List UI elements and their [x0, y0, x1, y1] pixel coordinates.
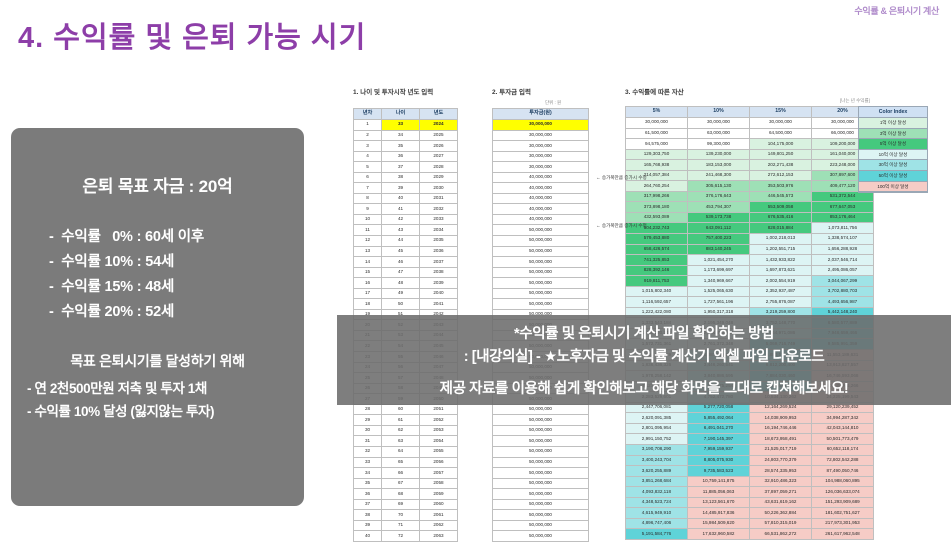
cell[interactable]: 2040 [420, 288, 458, 299]
table-row[interactable]: 30,000,00030,000,00030,000,00030,000,000 [626, 118, 874, 129]
table-row[interactable]: 30,000,000 [493, 162, 589, 173]
table-row[interactable]: 3,620,255,8899,735,583,52328,574,335,953… [626, 466, 874, 477]
cell[interactable]: 30,000,000 [493, 151, 589, 162]
table-row[interactable]: 1332024 [354, 120, 458, 131]
cell[interactable]: 828,392,146 [626, 265, 688, 276]
cell[interactable]: 2026 [420, 141, 458, 152]
cell[interactable]: 2062 [420, 520, 458, 531]
cell[interactable]: 919,811,753 [626, 276, 688, 287]
table-row[interactable]: 50,000,000 [493, 436, 589, 447]
table-row[interactable]: 36682059 [354, 489, 458, 500]
table-row[interactable]: 50,000,000 [493, 278, 589, 289]
table-row[interactable]: 579,453,880757,400,2231,002,218,0131,338… [626, 234, 874, 245]
cell[interactable]: 139,230,000 [688, 149, 750, 160]
cell[interactable]: 305,615,130 [688, 181, 750, 192]
cell[interactable]: 317,998,266 [626, 191, 688, 202]
cell[interactable]: 50,000,000 [493, 478, 589, 489]
cell[interactable]: 3,702,880,703 [812, 286, 874, 297]
cell[interactable]: 30,000,000 [626, 118, 688, 129]
cell[interactable]: 446,545,573 [750, 191, 812, 202]
table-row[interactable]: 17492040 [354, 288, 458, 299]
cell[interactable]: 21,525,017,719 [750, 444, 812, 455]
cell[interactable]: 2052 [420, 415, 458, 426]
table-row[interactable]: 38702061 [354, 510, 458, 521]
table-row[interactable]: 1,116,592,6571,727,561,1962,755,876,0874… [626, 297, 874, 308]
cell[interactable]: 30,000,000 [493, 130, 589, 141]
cell[interactable]: 36 [354, 489, 382, 500]
table-row[interactable]: 4,896,747,40615,984,509,62057,810,315,01… [626, 518, 874, 529]
cell[interactable]: 2033 [420, 214, 458, 225]
cell[interactable]: 24,803,770,379 [750, 455, 812, 466]
cell[interactable]: 18,673,958,491 [750, 434, 812, 445]
cell[interactable]: 2,037,546,714 [812, 255, 874, 266]
table-row[interactable]: 2,620,091,3855,855,492,06414,038,909,953… [626, 413, 874, 424]
cell[interactable]: 4,493,656,987 [812, 297, 874, 308]
cell[interactable]: 28 [354, 404, 382, 415]
cell[interactable]: 3 [354, 141, 382, 152]
table-row[interactable]: 1,015,802,3401,525,065,6302,352,937,4873… [626, 286, 874, 297]
cell[interactable]: 151,293,909,689 [812, 497, 874, 508]
cell[interactable]: 30 [354, 425, 382, 436]
cell[interactable]: 2032 [420, 204, 458, 215]
cell[interactable]: 60,652,118,174 [812, 444, 874, 455]
table-row[interactable]: 30622053 [354, 425, 458, 436]
cell[interactable]: 50,000,000 [493, 299, 589, 310]
cell[interactable]: 9,735,583,523 [688, 466, 750, 477]
table-row[interactable]: 4362027 [354, 151, 458, 162]
cell[interactable]: 30,000,000 [493, 162, 589, 173]
cell[interactable]: 17 [354, 288, 382, 299]
table-row[interactable]: 50,000,000 [493, 446, 589, 457]
cell[interactable]: 2063 [420, 531, 458, 542]
cell[interactable]: 50,000,000 [493, 267, 589, 278]
cell[interactable]: 60 [382, 404, 420, 415]
table-row[interactable]: 50,000,000 [493, 425, 589, 436]
cell[interactable]: 17,632,960,582 [688, 529, 750, 540]
cell[interactable]: 12 [354, 236, 382, 247]
cell[interactable]: 39 [382, 183, 420, 194]
cell[interactable]: 3,190,708,290 [626, 444, 688, 455]
cell[interactable]: 50,000,000 [493, 446, 589, 457]
cell[interactable]: 1,727,561,196 [688, 297, 750, 308]
cell[interactable]: 432,593,089 [626, 212, 688, 223]
cell[interactable]: 64,500,000 [750, 128, 812, 139]
cell[interactable]: 40,000,000 [493, 193, 589, 204]
table-row[interactable]: 10422033 [354, 214, 458, 225]
table-row[interactable]: 61,500,00063,000,00064,500,00066,000,000 [626, 128, 874, 139]
cell[interactable]: 33 [382, 120, 420, 131]
cell[interactable]: 2039 [420, 278, 458, 289]
cell[interactable]: 1,002,218,013 [750, 234, 812, 245]
cell[interactable]: 1,015,802,340 [626, 286, 688, 297]
cell[interactable]: 2035 [420, 236, 458, 247]
cell[interactable]: 40,000,000 [493, 214, 589, 225]
table-row[interactable]: 30,000,000 [493, 120, 589, 131]
cell[interactable]: 62 [382, 425, 420, 436]
cell[interactable]: 2029 [420, 172, 458, 183]
cell[interactable]: 40 [354, 531, 382, 542]
cell[interactable]: 241,468,300 [688, 170, 750, 181]
cell[interactable]: 453,794,307 [688, 202, 750, 213]
cell[interactable]: 35 [354, 478, 382, 489]
cell[interactable]: 50,000,000 [493, 257, 589, 268]
table-row[interactable]: 9412032 [354, 204, 458, 215]
cell[interactable]: 2,352,937,487 [750, 286, 812, 297]
cell[interactable]: 33 [354, 457, 382, 468]
table-row[interactable]: 40,000,000 [493, 172, 589, 183]
cell[interactable]: 61 [382, 415, 420, 426]
table-row[interactable]: 2,801,095,9546,491,041,27016,194,746,446… [626, 423, 874, 434]
table-row[interactable]: 50,000,000 [493, 510, 589, 521]
cell[interactable]: 5,855,492,064 [688, 413, 750, 424]
cell[interactable]: 1,338,574,107 [812, 234, 874, 245]
cell[interactable]: 1,073,811,756 [812, 223, 874, 234]
cell[interactable]: 658,426,574 [626, 244, 688, 255]
table-row[interactable]: 13452036 [354, 246, 458, 257]
cell[interactable]: 539,173,738 [688, 212, 750, 223]
cell[interactable]: 37 [354, 499, 382, 510]
table-row[interactable]: 30,000,000 [493, 130, 589, 141]
cell[interactable]: 4,615,949,910 [626, 508, 688, 519]
cell[interactable]: 42 [382, 214, 420, 225]
cell[interactable]: 4 [354, 151, 382, 162]
table-row[interactable]: 50,000,000 [493, 468, 589, 479]
table-row[interactable]: 8402031 [354, 193, 458, 204]
table-row[interactable]: 40,000,000 [493, 214, 589, 225]
cell[interactable]: 1,173,699,697 [688, 265, 750, 276]
cell[interactable]: 3,620,255,889 [626, 466, 688, 477]
cell[interactable]: 129,303,750 [626, 149, 688, 160]
table-row[interactable]: 40722063 [354, 531, 458, 542]
cell[interactable]: 14 [354, 257, 382, 268]
cell[interactable]: 217,973,301,953 [812, 518, 874, 529]
cell[interactable]: 126,036,633,074 [812, 487, 874, 498]
cell[interactable]: 50,000,000 [493, 415, 589, 426]
cell[interactable]: 40,000,000 [493, 183, 589, 194]
cell[interactable]: 41 [382, 204, 420, 215]
cell[interactable]: 2041 [420, 299, 458, 310]
table-row[interactable]: 741,325,8531,021,454,2701,432,933,8222,0… [626, 255, 874, 266]
cell[interactable]: 34 [354, 468, 382, 479]
table-row[interactable]: 40,000,000 [493, 204, 589, 215]
cell[interactable]: 40,000,000 [493, 172, 589, 183]
cell[interactable]: 2,801,095,954 [626, 423, 688, 434]
cell[interactable]: 2051 [420, 404, 458, 415]
cell[interactable]: 70 [382, 510, 420, 521]
table-row[interactable]: 3352026 [354, 141, 458, 152]
cell[interactable]: 1,202,551,715 [750, 244, 812, 255]
table-row[interactable]: 29612052 [354, 415, 458, 426]
table-row[interactable]: 50,000,000 [493, 499, 589, 510]
cell[interactable]: 11 [354, 225, 382, 236]
table-row[interactable]: 3,400,243,7048,805,075,93024,803,770,379… [626, 455, 874, 466]
cell[interactable]: 883,140,245 [688, 244, 750, 255]
cell[interactable]: 13 [354, 246, 382, 257]
table-row[interactable]: 31632054 [354, 436, 458, 447]
cell[interactable]: 2,755,876,087 [750, 297, 812, 308]
cell[interactable]: 2030 [420, 183, 458, 194]
cell[interactable]: 99,300,000 [688, 139, 750, 150]
cell[interactable]: 3,044,067,299 [812, 276, 874, 287]
table-row[interactable]: 50,000,000 [493, 457, 589, 468]
cell[interactable]: 757,400,223 [688, 234, 750, 245]
cell[interactable]: 828,015,884 [750, 223, 812, 234]
cell[interactable]: 2058 [420, 478, 458, 489]
table-row[interactable]: 658,426,574883,140,2451,202,551,7151,656… [626, 244, 874, 255]
cell[interactable]: 5,191,584,776 [626, 529, 688, 540]
cell[interactable]: 63 [382, 436, 420, 447]
cell[interactable]: 264,760,254 [626, 181, 688, 192]
cell[interactable]: 2,991,150,752 [626, 434, 688, 445]
cell[interactable]: 104,988,060,895 [812, 476, 874, 487]
cell[interactable]: 42,043,144,810 [812, 423, 874, 434]
table-row[interactable]: 34662057 [354, 468, 458, 479]
cell[interactable]: 2,495,086,057 [812, 265, 874, 276]
cell[interactable]: 553,509,058 [750, 202, 812, 213]
table-row[interactable]: 50,000,000 [493, 478, 589, 489]
cell[interactable]: 2056 [420, 457, 458, 468]
cell[interactable]: 50,000,000 [493, 278, 589, 289]
cell[interactable]: 2038 [420, 267, 458, 278]
cell[interactable]: 853,176,464 [812, 212, 874, 223]
cell[interactable]: 63,000,000 [688, 128, 750, 139]
cell[interactable]: 579,453,880 [626, 234, 688, 245]
cell[interactable]: 32,910,486,323 [750, 476, 812, 487]
cell[interactable]: 2028 [420, 162, 458, 173]
cell[interactable]: 16,194,746,446 [750, 423, 812, 434]
cell[interactable]: 30,000,000 [750, 118, 812, 129]
table-row[interactable]: 50,000,000 [493, 520, 589, 531]
table-row[interactable]: 432,593,089539,173,738676,535,416853,176… [626, 212, 874, 223]
cell[interactable]: 43,631,619,162 [750, 497, 812, 508]
cell[interactable]: 29 [354, 415, 382, 426]
cell[interactable]: 5 [354, 162, 382, 173]
cell[interactable]: 7,959,159,937 [688, 444, 750, 455]
cell[interactable]: 66,531,862,272 [750, 529, 812, 540]
cell[interactable]: 43 [382, 225, 420, 236]
table-row[interactable]: 33652056 [354, 457, 458, 468]
cell[interactable]: 18 [354, 299, 382, 310]
table-row[interactable]: 214,057,384241,468,300272,612,153307,897… [626, 170, 874, 181]
cell[interactable]: 47 [382, 267, 420, 278]
cell[interactable]: 1,432,933,822 [750, 255, 812, 266]
cell[interactable]: 94,575,000 [626, 139, 688, 150]
cell[interactable]: 50,000,000 [493, 499, 589, 510]
cell[interactable]: 13,123,561,670 [688, 497, 750, 508]
cell[interactable]: 7,190,145,397 [688, 434, 750, 445]
cell[interactable]: 15,984,509,620 [688, 518, 750, 529]
cell[interactable]: 14,485,917,836 [688, 508, 750, 519]
table-row[interactable]: 30,000,000 [493, 151, 589, 162]
cell[interactable]: 4,093,832,118 [626, 487, 688, 498]
cell[interactable]: 677,647,053 [812, 202, 874, 213]
table-row[interactable]: 6382029 [354, 172, 458, 183]
table-row[interactable]: 14462037 [354, 257, 458, 268]
cell[interactable]: 1 [354, 120, 382, 131]
cell[interactable]: 87,490,050,746 [812, 466, 874, 477]
cell[interactable]: 8,805,075,930 [688, 455, 750, 466]
cell[interactable]: 1,525,065,630 [688, 286, 750, 297]
cell[interactable]: 66 [382, 468, 420, 479]
cell[interactable]: 72,802,542,288 [812, 455, 874, 466]
cell[interactable]: 32 [354, 446, 382, 457]
table-row[interactable]: 11432034 [354, 225, 458, 236]
cell[interactable]: 373,898,180 [626, 202, 688, 213]
table-row[interactable]: 165,768,938183,153,000202,271,438223,248… [626, 160, 874, 171]
cell[interactable]: 38 [382, 172, 420, 183]
table-row[interactable]: 94,575,00099,300,000104,175,000109,200,0… [626, 139, 874, 150]
table-row[interactable]: 28602051 [354, 404, 458, 415]
cell[interactable]: 61,500,000 [626, 128, 688, 139]
table-row[interactable]: 50,000,000 [493, 415, 589, 426]
cell[interactable]: 50,000,000 [493, 489, 589, 500]
table-row[interactable]: 50,000,000 [493, 404, 589, 415]
cell[interactable]: 272,612,153 [750, 170, 812, 181]
cell[interactable]: 6,491,041,270 [688, 423, 750, 434]
cell[interactable]: 3,851,268,684 [626, 476, 688, 487]
cell[interactable]: 676,535,416 [750, 212, 812, 223]
cell[interactable]: 30,000,000 [688, 118, 750, 129]
cell[interactable]: 38 [354, 510, 382, 521]
cell[interactable]: 14,038,909,953 [750, 413, 812, 424]
cell[interactable]: 65 [382, 457, 420, 468]
cell[interactable]: 50,000,000 [493, 404, 589, 415]
cell[interactable]: 16 [354, 278, 382, 289]
cell[interactable]: 64 [382, 446, 420, 457]
cell[interactable]: 165,768,938 [626, 160, 688, 171]
cell[interactable]: 643,091,112 [688, 223, 750, 234]
cell[interactable]: 376,176,643 [688, 191, 750, 202]
table-row[interactable]: 37692060 [354, 499, 458, 510]
cell[interactable]: 30,000,000 [493, 141, 589, 152]
table-row[interactable]: 3,190,708,2907,959,159,93721,525,017,719… [626, 444, 874, 455]
cell[interactable]: 34 [382, 130, 420, 141]
cell[interactable]: 2055 [420, 446, 458, 457]
table-row[interactable]: 50,000,000 [493, 299, 589, 310]
table-row[interactable]: 16482039 [354, 278, 458, 289]
table-row[interactable]: 32642055 [354, 446, 458, 457]
cell[interactable]: 2057 [420, 468, 458, 479]
cell[interactable]: 2061 [420, 510, 458, 521]
cell[interactable]: 10,759,141,875 [688, 476, 750, 487]
cell[interactable]: 50,000,000 [493, 520, 589, 531]
table-row[interactable]: 50,000,000 [493, 489, 589, 500]
cell[interactable]: 6 [354, 172, 382, 183]
cell[interactable]: 7 [354, 183, 382, 194]
cell[interactable]: 181,602,751,627 [812, 508, 874, 519]
cell[interactable]: 57,810,315,019 [750, 518, 812, 529]
cell[interactable]: 11,885,056,063 [688, 487, 750, 498]
cell[interactable]: 15 [354, 267, 382, 278]
cell[interactable]: 1,656,288,928 [812, 244, 874, 255]
table-row[interactable]: 40,000,000 [493, 183, 589, 194]
cell[interactable]: 50,000,000 [493, 288, 589, 299]
cell[interactable]: 741,325,853 [626, 255, 688, 266]
cell[interactable]: 40,000,000 [493, 204, 589, 215]
cell[interactable]: 2031 [420, 193, 458, 204]
cell[interactable]: 34,994,287,342 [812, 413, 874, 424]
table-row[interactable]: 40,000,000 [493, 193, 589, 204]
table-row[interactable]: 2342025 [354, 130, 458, 141]
table-row[interactable]: 7392030 [354, 183, 458, 194]
table-row[interactable]: 15472038 [354, 267, 458, 278]
cell[interactable]: 2,620,091,385 [626, 413, 688, 424]
cell[interactable]: 261,617,962,548 [812, 529, 874, 540]
table-row[interactable]: 50,000,000 [493, 225, 589, 236]
cell[interactable]: 2,002,554,919 [750, 276, 812, 287]
cell[interactable]: 104,175,000 [750, 139, 812, 150]
cell[interactable]: 37,897,059,271 [750, 487, 812, 498]
cell[interactable]: 10 [354, 214, 382, 225]
cell[interactable]: 2036 [420, 246, 458, 257]
cell[interactable]: 2034 [420, 225, 458, 236]
cell[interactable]: 183,153,000 [688, 160, 750, 171]
table-row[interactable]: 50,000,000 [493, 257, 589, 268]
cell[interactable]: 44 [382, 236, 420, 247]
cell[interactable]: 9 [354, 204, 382, 215]
cell[interactable]: 46 [382, 257, 420, 268]
table-row[interactable]: 50,000,000 [493, 246, 589, 257]
cell[interactable]: 2 [354, 130, 382, 141]
cell[interactable]: 72 [382, 531, 420, 542]
cell[interactable]: 202,271,438 [750, 160, 812, 171]
table-row[interactable]: 30,000,000 [493, 141, 589, 152]
cell[interactable]: 71 [382, 520, 420, 531]
table-row[interactable]: 317,998,266376,176,643446,545,573531,372… [626, 191, 874, 202]
cell[interactable]: 2025 [420, 130, 458, 141]
table-row[interactable]: 5,191,584,77617,632,960,58266,531,862,27… [626, 529, 874, 540]
cell[interactable]: 1,116,592,657 [626, 297, 688, 308]
cell[interactable]: 50,000,000 [493, 236, 589, 247]
cell[interactable]: 50,000,000 [493, 225, 589, 236]
cell[interactable]: 67 [382, 478, 420, 489]
cell[interactable]: 4,896,747,406 [626, 518, 688, 529]
table-row[interactable]: 50,000,000 [493, 288, 589, 299]
cell[interactable]: 4,348,523,724 [626, 497, 688, 508]
cell[interactable]: 2037 [420, 257, 458, 268]
table-row[interactable]: 504,232,743643,091,112828,015,8841,073,8… [626, 223, 874, 234]
cell[interactable]: 39 [354, 520, 382, 531]
cell[interactable]: 36 [382, 151, 420, 162]
table-row[interactable]: 373,898,180453,794,307553,509,058677,647… [626, 202, 874, 213]
cell[interactable]: 50,000,000 [493, 510, 589, 521]
table-row[interactable]: 3,851,268,68410,759,141,87532,910,486,32… [626, 476, 874, 487]
cell[interactable]: 50,000,000 [493, 246, 589, 257]
cell[interactable]: 50,000,000 [493, 468, 589, 479]
cell[interactable]: 50,000,000 [493, 531, 589, 542]
table-row[interactable]: 2,991,150,7527,190,145,39718,673,958,491… [626, 434, 874, 445]
cell[interactable]: 37 [382, 162, 420, 173]
table-row[interactable]: 12442035 [354, 236, 458, 247]
cell[interactable]: 35 [382, 141, 420, 152]
table-row[interactable]: 50,000,000 [493, 267, 589, 278]
table-row[interactable]: 5372028 [354, 162, 458, 173]
table-row[interactable]: 4,093,832,11811,885,056,06337,897,059,27… [626, 487, 874, 498]
cell[interactable]: 31 [354, 436, 382, 447]
cell[interactable]: 353,503,976 [750, 181, 812, 192]
cell[interactable]: 50,000,000 [493, 457, 589, 468]
cell[interactable]: 2054 [420, 436, 458, 447]
table-row[interactable]: 18502041 [354, 299, 458, 310]
cell[interactable]: 30,000,000 [493, 120, 589, 131]
table-row[interactable]: 264,760,254305,615,130353,503,976409,477… [626, 181, 874, 192]
cell[interactable]: 3,400,243,704 [626, 455, 688, 466]
cell[interactable]: 2024 [420, 120, 458, 131]
cell[interactable]: 50,000,000 [493, 436, 589, 447]
cell[interactable]: 68 [382, 489, 420, 500]
cell[interactable]: 2059 [420, 489, 458, 500]
cell[interactable]: 2053 [420, 425, 458, 436]
